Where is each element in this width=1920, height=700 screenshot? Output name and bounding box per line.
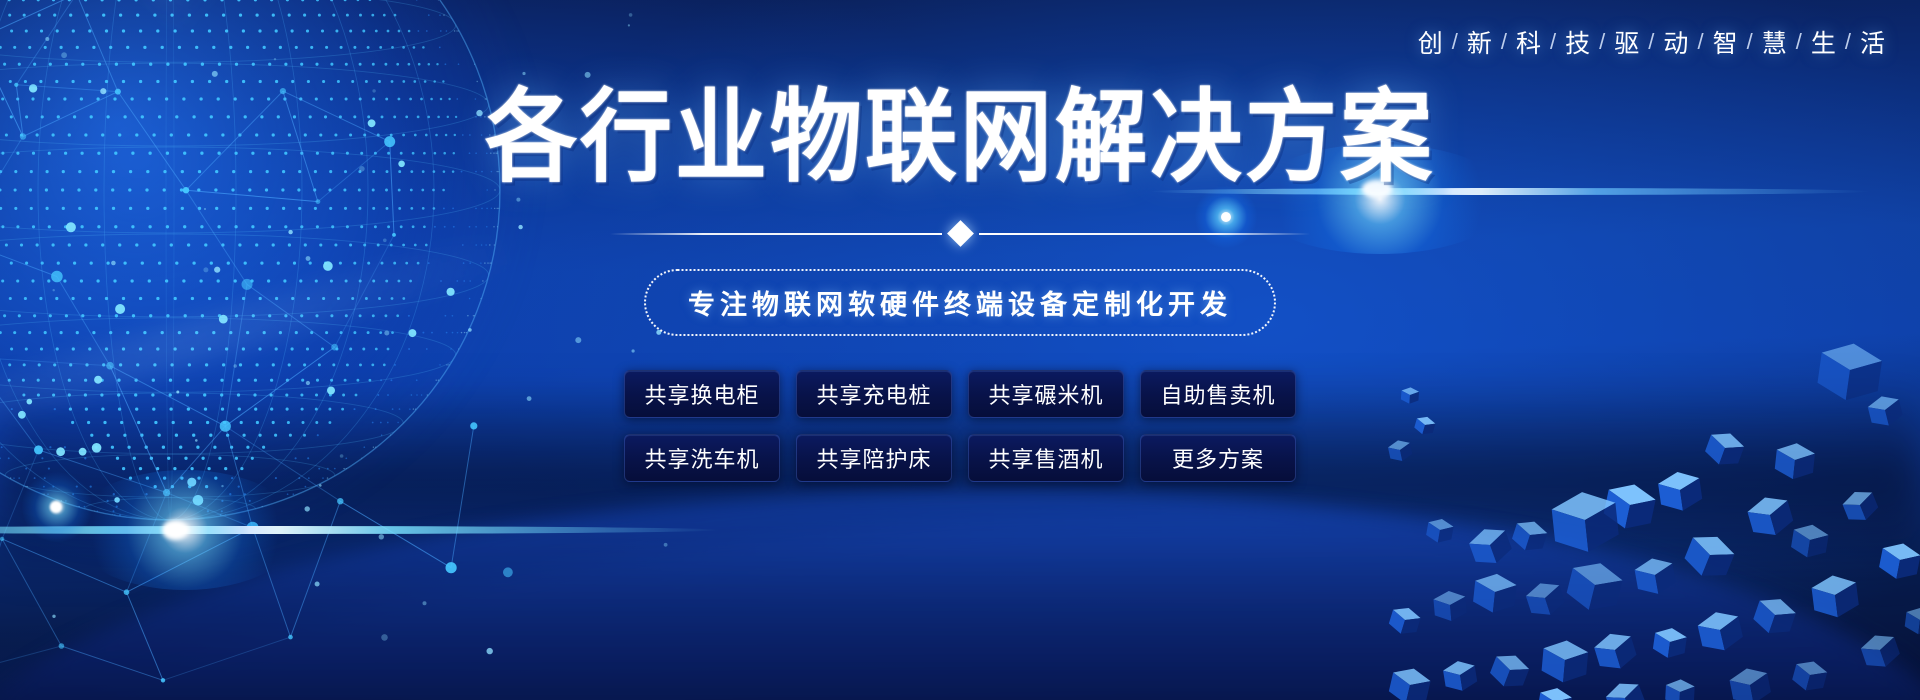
banner-content: 创/新/科/技/驱/动/智/慧/生/活 各行业物联网解决方案 专注物联网软硬件终… [0,0,1920,700]
solution-button[interactable]: 更多方案 [1140,434,1296,482]
solution-button[interactable]: 共享换电柜 [624,370,780,418]
tagline-char: 活 [1858,24,1888,60]
tagline-separator: / [1593,29,1612,55]
tagline-separator: / [1642,29,1661,55]
subtitle-pill: 专注物联网软硬件终端设备定制化开发 [644,269,1276,336]
tagline-separator: / [1741,29,1760,55]
tagline-separator: / [1446,29,1465,55]
solution-buttons: 共享换电柜共享充电桩共享碾米机自助售卖机共享洗车机共享陪护床共享售酒机更多方案 [624,370,1296,482]
solution-button[interactable]: 共享碾米机 [968,370,1124,418]
tagline-separator: / [1495,29,1514,55]
divider-line-right [979,233,1311,235]
tagline-char: 生 [1809,24,1839,60]
tagline-char: 慧 [1760,24,1790,60]
tagline-char: 智 [1711,24,1741,60]
solution-button[interactable]: 共享售酒机 [968,434,1124,482]
tagline-separator: / [1544,29,1563,55]
tagline-char: 新 [1465,24,1495,60]
tagline-separator: / [1691,29,1710,55]
tagline-separator: / [1839,29,1858,55]
tagline-char: 创 [1416,24,1446,60]
iot-solution-banner: 创/新/科/技/驱/动/智/慧/生/活 各行业物联网解决方案 专注物联网软硬件终… [0,0,1920,700]
solution-button-row: 共享洗车机共享陪护床共享售酒机更多方案 [624,434,1296,482]
solution-button[interactable]: 共享洗车机 [624,434,780,482]
diamond-icon [947,220,974,247]
solution-button-row: 共享换电柜共享充电桩共享碾米机自助售卖机 [624,370,1296,418]
page-title: 各行业物联网解决方案 [485,87,1435,188]
solution-button[interactable]: 自助售卖机 [1140,370,1296,418]
divider-line-left [610,233,942,235]
tagline-separator: / [1790,29,1809,55]
tagline: 创/新/科/技/驱/动/智/慧/生/活 [1416,24,1888,60]
tagline-char: 动 [1661,24,1691,60]
tagline-char: 科 [1514,24,1544,60]
tagline-char: 驱 [1612,24,1642,60]
title-divider [610,224,1310,243]
solution-button[interactable]: 共享充电桩 [796,370,952,418]
solution-button[interactable]: 共享陪护床 [796,434,952,482]
tagline-char: 技 [1563,24,1593,60]
